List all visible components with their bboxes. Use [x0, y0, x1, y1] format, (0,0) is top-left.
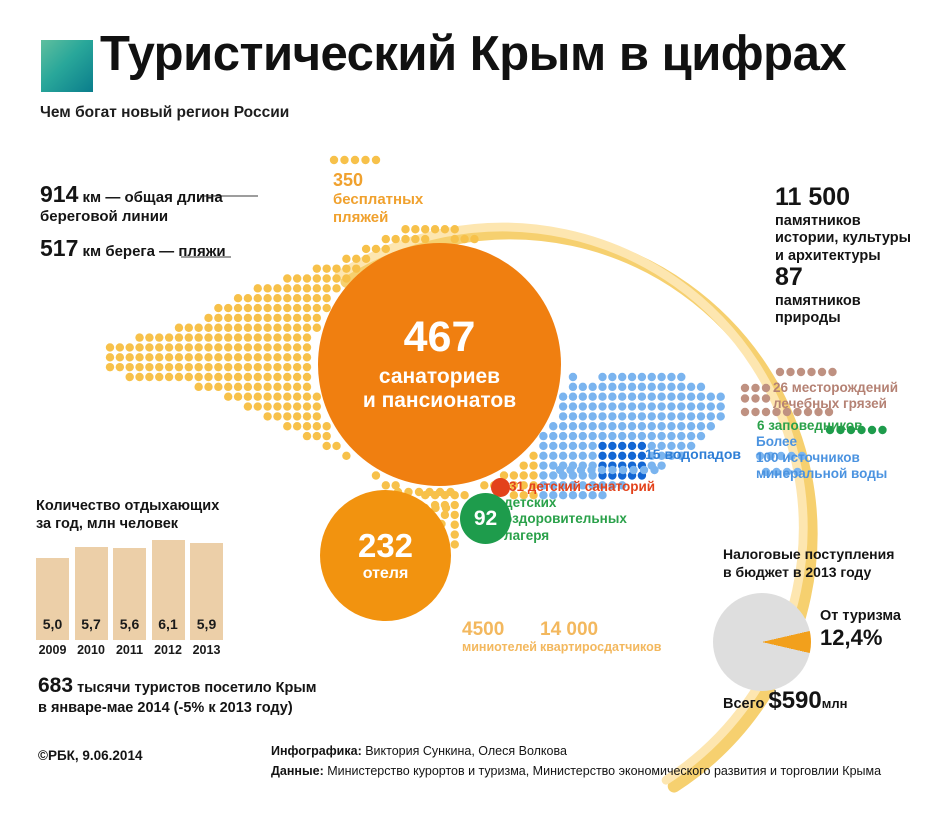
sanatoriums-line1: санаториев	[379, 365, 500, 388]
nature-number: 87	[775, 262, 925, 293]
apartments-caption: квартиросдатчиков	[540, 641, 661, 655]
camps-line1: детских	[504, 495, 627, 511]
bar-label-2011: 2011	[111, 643, 148, 657]
tax-title-line2: в бюджет в 2013 году	[723, 564, 894, 582]
sanatoriums-number: 467	[404, 316, 476, 359]
coastline-number: 914	[40, 181, 78, 207]
callout-beaches: 517 км берега — пляжи	[40, 234, 255, 262]
infographics-label: Инфографика:	[271, 744, 362, 758]
chart-title: Количество отдыхающих за год, млн челове…	[36, 497, 219, 533]
copyright: ©РБК, 9.06.2014	[38, 748, 142, 763]
total-prefix: Всего	[723, 696, 764, 712]
label-kids-camps: детских оздоровительных лагеря	[504, 495, 627, 544]
bubble-hotels: 232 отеля	[320, 490, 451, 621]
infographics-value: Виктория Сункина, Олеся Волкова	[362, 744, 567, 758]
mud-line1: 26 месторождений	[773, 380, 898, 396]
apartments-number: 14 000	[540, 620, 661, 641]
label-minihotels: 4500 миниотелей	[462, 620, 537, 655]
tax-total: Всего $590млн	[723, 687, 847, 715]
coastline-text: км — общая длина	[78, 189, 222, 206]
bubble-camps: 92	[460, 493, 511, 544]
hotels-number: 232	[358, 529, 413, 562]
free-beaches-number: 350	[333, 170, 423, 191]
mud-line2: лечебных грязей	[773, 396, 898, 412]
label-mud-deposits: 26 месторождений лечебных грязей	[773, 380, 898, 412]
tourists-note: 683 тысячи туристов посетило Крым в янва…	[38, 672, 328, 718]
chart-title-line1: Количество отдыхающих	[36, 497, 219, 515]
coastline-text2: береговой линии	[40, 208, 168, 225]
label-kids-sanatorium: 31 детский санаторий	[509, 479, 655, 494]
minihotels-number: 4500	[462, 620, 537, 641]
free-beaches-line2: пляжей	[333, 209, 423, 227]
camps-line2: оздоровительных	[504, 511, 627, 527]
tax-title: Налоговые поступления в бюджет в 2013 го…	[723, 546, 894, 581]
beaches-text: км берега — пляжи	[78, 243, 225, 260]
bar-value-2013: 5,9	[190, 616, 223, 632]
data-value: Министерство курортов и туризма, Министе…	[324, 764, 881, 778]
bar-value-2012: 6,1	[152, 616, 185, 632]
beaches-number: 517	[40, 235, 78, 261]
bar-label-2010: 2010	[73, 643, 110, 657]
nature-line2: природы	[775, 310, 925, 328]
tourists-line1: тысячи туристов посетило Крым	[73, 680, 316, 696]
page-subtitle: Чем богат новый регион России	[40, 104, 289, 122]
minihotels-caption: миниотелей	[462, 641, 537, 655]
camps-number: 92	[474, 507, 497, 531]
monuments-number: 11 500	[775, 182, 925, 213]
mineral-line1: Более	[756, 434, 887, 450]
bar-value-2009: 5,0	[36, 616, 69, 632]
mineral-line3: минеральной воды	[756, 466, 887, 482]
data-label: Данные:	[271, 764, 324, 778]
callout-coastline: 914 км — общая длина береговой линии	[40, 180, 255, 226]
credits: Инфографика: Виктория Сункина, Олеся Вол…	[271, 741, 881, 781]
bar-label-2012: 2012	[150, 643, 187, 657]
label-reserves: 6 заповедников	[757, 418, 862, 433]
label-free-beaches: 350 бесплатных пляжей	[333, 170, 423, 227]
pie-legend-value: 12,4%	[820, 625, 901, 651]
label-waterfalls: 15 водопадов	[645, 446, 741, 462]
bar-label-2013: 2013	[188, 643, 225, 657]
total-amount: $590	[768, 687, 821, 714]
bubble-sanatoriums: 467 санаториев и пансионатов	[318, 243, 561, 486]
pie-legend-label: От туризма	[820, 608, 901, 625]
page-title: Туристический Крым в цифрах	[100, 26, 846, 82]
tourists-number: 683	[38, 674, 73, 697]
sanatoriums-line2: и пансионатов	[363, 389, 516, 412]
tourists-bar-chart: 5,05,75,66,15,9	[36, 530, 236, 640]
hotels-caption: отеля	[363, 565, 409, 583]
mineral-line2: 100 источников	[756, 450, 887, 466]
tax-pie-chart	[713, 593, 811, 691]
bar-value-2011: 5,6	[113, 616, 146, 632]
bar-label-2009: 2009	[34, 643, 71, 657]
label-apartments: 14 000 квартиросдатчиков	[540, 620, 661, 655]
label-mineral-water: Более 100 источников минеральной воды	[756, 434, 887, 483]
rbc-logo-icon	[41, 40, 93, 92]
infographic-page: Туристический Крым в цифрах Чем богат но…	[0, 0, 930, 820]
bar-value-2010: 5,7	[75, 616, 108, 632]
callout-monuments: 11 500 памятников истории, культуры и ар…	[775, 182, 925, 266]
tax-title-line1: Налоговые поступления	[723, 546, 894, 564]
free-beaches-line1: бесплатных	[333, 191, 423, 209]
monuments-line1: памятников	[775, 213, 925, 231]
total-unit: млн	[822, 696, 848, 711]
monuments-line2: истории, культуры	[775, 230, 925, 248]
tourists-line2: в январе-мае 2014 (-5% к 2013 году)	[38, 700, 293, 716]
pie-legend: От туризма 12,4%	[820, 608, 901, 652]
camps-line3: лагеря	[504, 528, 627, 544]
nature-line1: памятников	[775, 293, 925, 311]
callout-nature: 87 памятников природы	[775, 262, 925, 328]
